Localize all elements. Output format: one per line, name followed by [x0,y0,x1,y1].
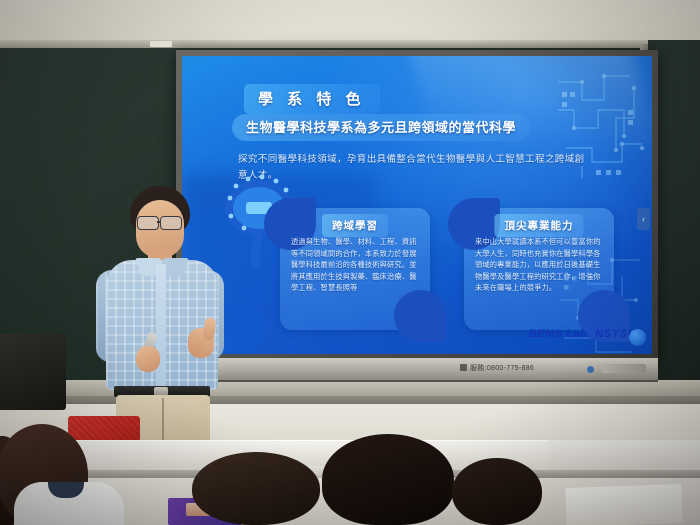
display-bezel-bottom: 服務:0800-775-886 [176,358,658,382]
audience-member-2-head [192,452,320,525]
slide-subtitle: 生物醫學科技學系為多元且跨領域的當代科學 [246,120,516,135]
feature-card-2-badge: 頂尖專業能力 [495,214,584,237]
watermark-dot-icon [629,329,646,346]
card-blob-bottomright [394,290,446,342]
audience-member-3-head [322,434,454,525]
display-service-label: 服務:0800-775-886 [176,363,658,373]
service-icon [460,364,467,371]
display-power-led [587,366,594,373]
presentation-display: 學 系 特 色 生物醫學科技學系為多元且跨領域的當代科學 探究不同醫學科技領域，… [176,50,658,360]
display-control-strip[interactable] [602,364,646,373]
slide-canvas: 學 系 特 色 生物醫學科技學系為多元且跨領域的當代科學 探究不同醫學科技領域，… [182,56,652,354]
desk-paper-sheet [565,484,682,525]
lecture-photo-scene: 學 系 特 色 生物醫學科技學系為多元且跨領域的當代科學 探究不同醫學科技領域，… [0,0,700,525]
side-monitor [0,334,66,410]
slide-title: 學 系 特 色 [258,91,366,108]
slide-title-badge: 學 系 特 色 [244,84,380,114]
display-screen: 學 系 特 色 生物醫學科技學系為多元且跨領域的當代科學 探究不同醫學科技領域，… [182,56,652,354]
glasses-right-lens-icon [160,216,182,230]
slide-watermark: BEMS Lab. NSYSU [529,328,636,340]
presenter-figure [92,186,232,446]
glasses-bridge [157,221,161,223]
slide-subtitle-bar: 生物醫學科技學系為多元且跨領域的當代科學 [232,114,530,141]
service-number: 服務:0800-775-886 [470,365,534,372]
feature-card-2-body: 來中山大學就讀本系不但可以豐富你的大學人生，同時也充實你在醫學科學各領域的專業能… [475,236,603,294]
display-prev-button[interactable]: ‹ [637,208,650,230]
presenter-hand-left [136,346,160,372]
trouser-seam [162,398,164,442]
feature-card-1-body: 透過與生物、醫學、材料、工程、資訊等不同領域間的合作，本系致力於發展醫學科技最前… [291,236,419,294]
rail-clip [150,41,172,47]
feature-card-1-title: 跨域學習 [332,220,378,232]
feature-card-1-badge: 跨域學習 [322,214,388,237]
feature-card-2: 頂尖專業能力 來中山大學就讀本系不但可以豐富你的大學人生，同時也充實你在醫學科學… [464,208,614,330]
glasses-left-lens-icon [137,216,159,230]
feature-card-2-title: 頂尖專業能力 [505,220,574,232]
audience-member-4-head [452,458,542,525]
feature-card-1: 跨域學習 透過與生物、醫學、材料、工程、資訊等不同領域間的合作，本系致力於發展醫… [280,208,430,330]
